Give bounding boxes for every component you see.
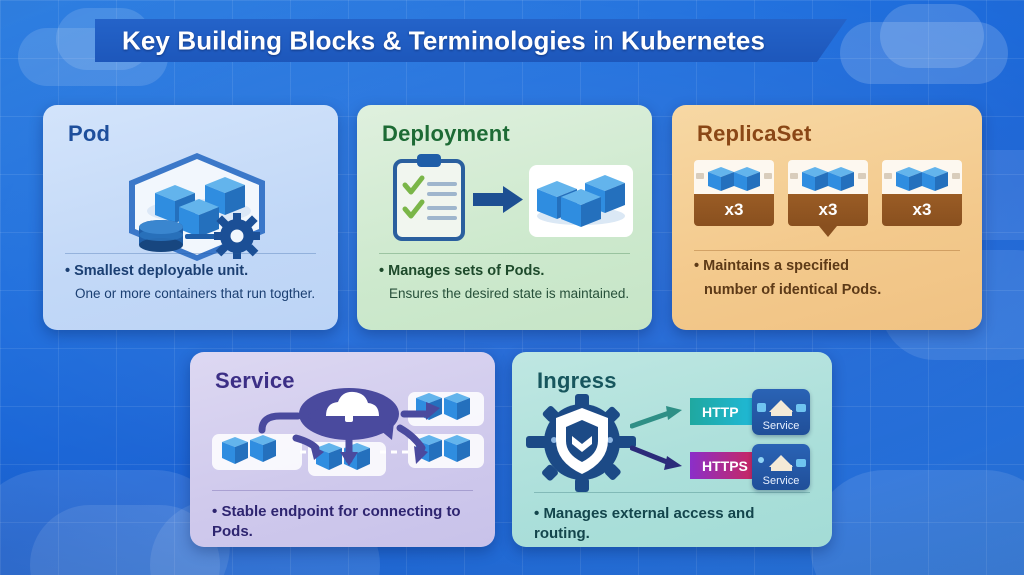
card-replicaset-divider: [694, 250, 960, 251]
card-ingress-line1-row: • Manages external access and routing.: [534, 504, 814, 545]
replica-item: x3: [694, 160, 774, 226]
replica-count-badge: x3: [694, 194, 774, 226]
card-replicaset-title: ReplicaSet: [697, 121, 812, 147]
card-service-line1-row: • Stable endpoint for connecting to Pods…: [212, 502, 477, 543]
card-pod-line1-row: • Smallest deployable unit.: [65, 262, 320, 282]
route-https-label: HTTPS: [702, 458, 748, 474]
shield-gear-icon: [524, 392, 636, 492]
service-target-https[interactable]: Service: [752, 444, 810, 490]
card-replicaset-body: • Maintains a specified number of identi…: [694, 257, 964, 300]
card-pod-line2: One or more containers that run togther.: [65, 285, 320, 304]
replica-cubes: [882, 160, 962, 194]
hexagon-pod-icon: [117, 149, 277, 264]
card-service-line1: Stable endpoint for connecting to Pods.: [212, 503, 461, 540]
bullet-icon: •: [379, 262, 384, 282]
service-target-http-label: Service: [752, 420, 810, 432]
card-pod-line1: Smallest deployable unit.: [74, 263, 248, 279]
page-title-part1: Key Building Blocks & Terminologies: [122, 25, 586, 55]
card-deployment-line1: Manages sets of Pods.: [388, 263, 544, 279]
cloud-decoration: [880, 4, 984, 68]
page-title-part2: in: [586, 25, 621, 55]
replica-item: x3: [882, 160, 962, 226]
card-ingress[interactable]: Ingress: [512, 352, 832, 547]
page-title-part3: Kubernetes: [621, 25, 765, 55]
page-title: Key Building Blocks & Terminologies in K…: [122, 25, 765, 56]
replica-count-badge: x3: [788, 194, 868, 226]
replica-cubes: [788, 160, 868, 194]
card-pod[interactable]: Pod: [43, 105, 338, 330]
card-ingress-line1: Manages external access and routing.: [534, 505, 754, 542]
card-deployment-divider: [379, 253, 630, 254]
card-pod-divider: [65, 253, 316, 254]
page-title-banner: Key Building Blocks & Terminologies in K…: [95, 19, 847, 62]
card-service-divider: [212, 490, 473, 491]
card-replicaset-line2: number of identical Pods.: [694, 281, 964, 301]
card-service[interactable]: Service: [190, 352, 495, 547]
replica-item: x3: [788, 160, 868, 226]
bullet-icon: •: [212, 502, 217, 522]
card-replicaset-line1-row: • Maintains a specified: [694, 257, 964, 277]
card-ingress-divider: [534, 492, 810, 493]
card-pod-title: Pod: [68, 121, 110, 147]
card-pod-body: • Smallest deployable unit. One or more …: [65, 262, 320, 303]
service-target-http[interactable]: Service: [752, 389, 810, 435]
replica-pointer: [819, 226, 837, 237]
replica-cards-icon: x3 x3: [694, 160, 962, 240]
card-deployment-body: • Manages sets of Pods. Ensures the desi…: [379, 262, 634, 303]
cloud-hub-arrows-icon: [204, 386, 489, 486]
service-target-https-label: Service: [752, 475, 810, 487]
cloud-decoration: [810, 470, 1024, 575]
card-service-body: • Stable endpoint for connecting to Pods…: [212, 502, 477, 543]
cloud-decoration: [840, 22, 1008, 84]
bullet-icon: •: [65, 262, 70, 282]
clipboard-arrow-cubes-icon: [377, 153, 635, 245]
replica-cubes: [694, 160, 774, 194]
card-deployment[interactable]: Deployment: [357, 105, 652, 330]
bullet-icon: •: [534, 504, 539, 524]
ingress-connector-arrows: [630, 404, 690, 474]
card-ingress-title: Ingress: [537, 368, 617, 394]
route-http-label: HTTP: [702, 404, 739, 420]
card-deployment-line2: Ensures the desired state is maintained.: [379, 285, 634, 304]
bullet-icon: •: [694, 257, 699, 277]
card-ingress-body: • Manages external access and routing.: [534, 504, 814, 545]
card-replicaset-line1: Maintains a specified: [703, 258, 849, 274]
card-deployment-line1-row: • Manages sets of Pods.: [379, 262, 634, 282]
replica-count-badge: x3: [882, 194, 962, 226]
infographic-canvas: Key Building Blocks & Terminologies in K…: [0, 0, 1024, 575]
card-replicaset[interactable]: ReplicaSet x3: [672, 105, 982, 330]
card-deployment-title: Deployment: [382, 121, 510, 147]
